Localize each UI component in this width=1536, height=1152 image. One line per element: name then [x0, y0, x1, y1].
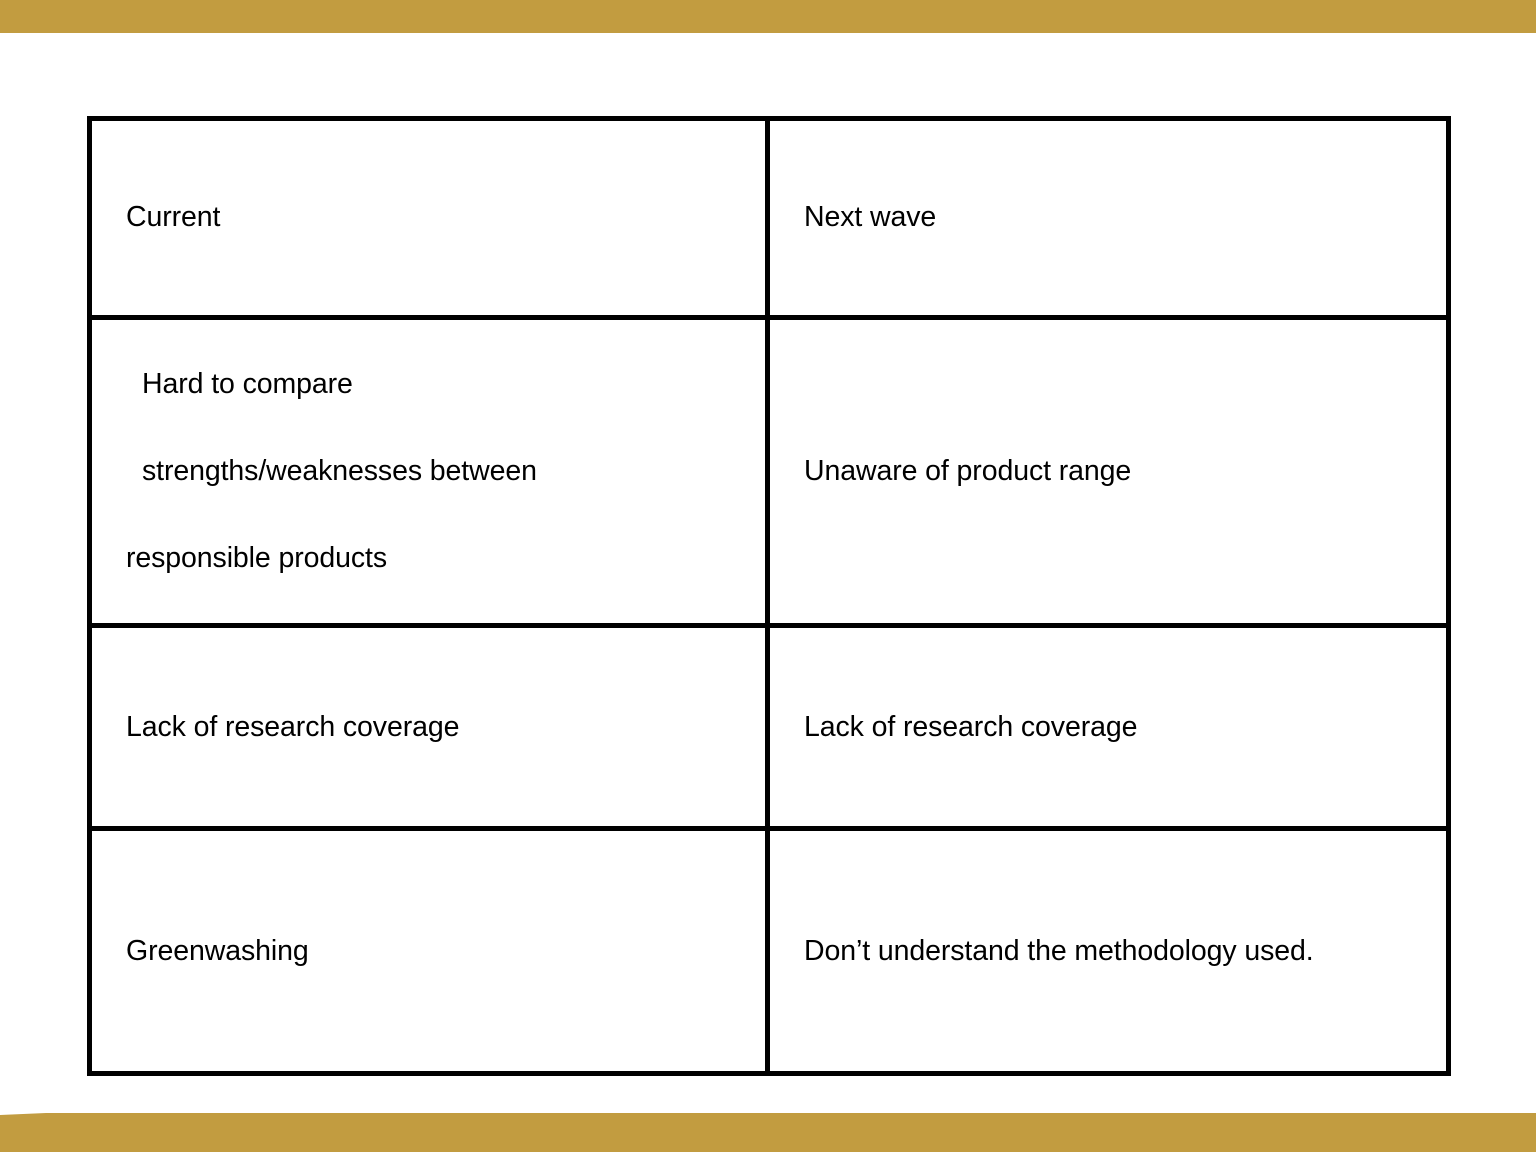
cell-current-row3-text: Greenwashing — [126, 930, 743, 973]
table-row: Greenwashing Don’t understand the method… — [90, 829, 1449, 1074]
cell-current-row1: Hard to compare strengths/weaknesses bet… — [90, 318, 768, 626]
bottom-accent-bar — [0, 1113, 1536, 1152]
cell-current-row2-text: Lack of research coverage — [126, 706, 743, 749]
table-row: Hard to compare strengths/weaknesses bet… — [90, 318, 1449, 626]
cell-next-wave-row3-text: Don’t understand the methodology used. — [804, 930, 1424, 973]
cell-current-row1-line1: Hard to compare — [126, 363, 743, 406]
slide-canvas: Current Next wave Hard to compare streng… — [0, 0, 1536, 1152]
cell-current-row1-line3: responsible products — [126, 537, 743, 580]
cell-current-row3: Greenwashing — [90, 829, 768, 1074]
cell-current-row1-line2: strengths/weaknesses between — [126, 450, 743, 493]
top-accent-bar — [0, 0, 1536, 33]
column-header-next-wave-label: Next wave — [804, 196, 1424, 239]
cell-next-wave-row3: Don’t understand the methodology used. — [768, 829, 1449, 1074]
cell-next-wave-row1: Unaware of product range — [768, 318, 1449, 626]
table-header-row: Current Next wave — [90, 119, 1449, 318]
column-header-current: Current — [90, 119, 768, 318]
cell-current-row2: Lack of research coverage — [90, 626, 768, 829]
cell-current-row1-text: Hard to compare strengths/weaknesses bet… — [126, 320, 743, 623]
cell-next-wave-row2: Lack of research coverage — [768, 626, 1449, 829]
column-header-next-wave: Next wave — [768, 119, 1449, 318]
cell-next-wave-row2-text: Lack of research coverage — [804, 706, 1424, 749]
cell-next-wave-row1-text: Unaware of product range — [804, 450, 1424, 493]
table-row: Lack of research coverage Lack of resear… — [90, 626, 1449, 829]
comparison-table: Current Next wave Hard to compare streng… — [87, 116, 1451, 1076]
comparison-table-container: Current Next wave Hard to compare streng… — [87, 116, 1446, 1033]
column-header-current-label: Current — [126, 196, 743, 239]
